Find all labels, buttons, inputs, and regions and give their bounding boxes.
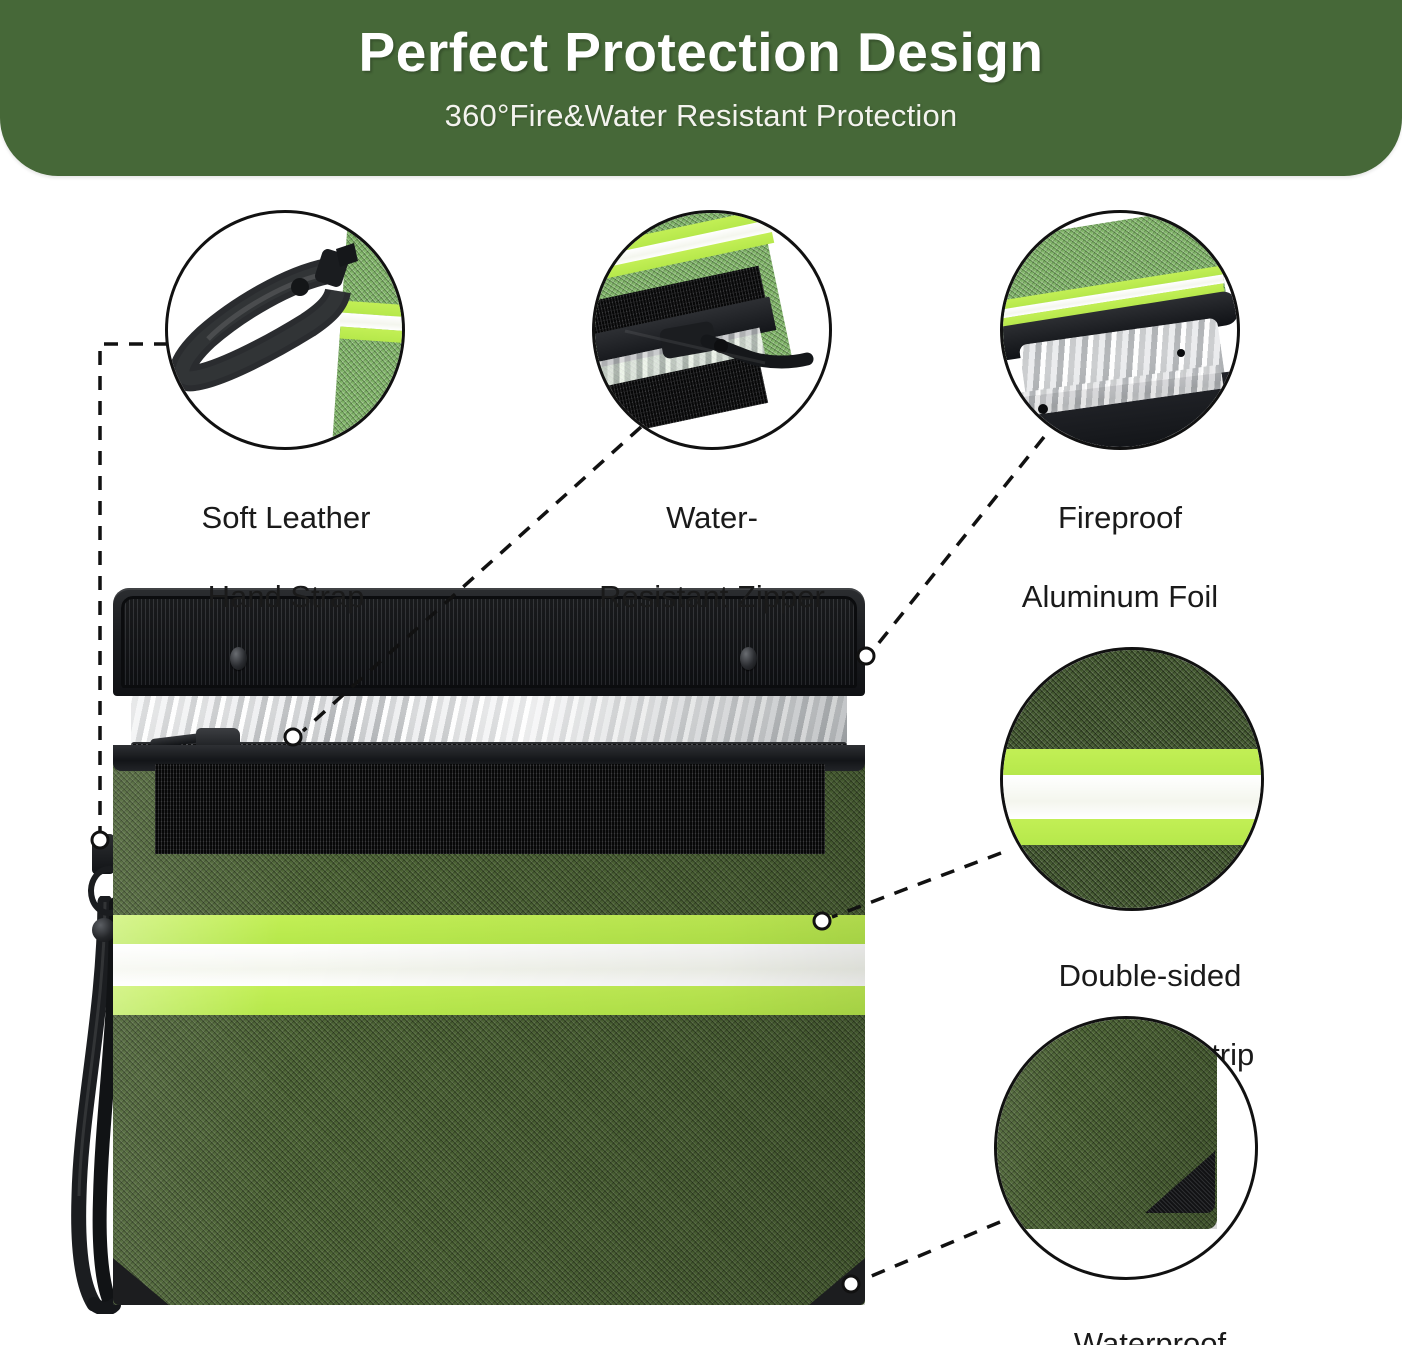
reflective-strip-sheen <box>113 915 865 1015</box>
callout-circle-fireproof-aluminum-foil <box>1000 210 1240 450</box>
strip-macro-lime-lower <box>1003 819 1261 845</box>
callout-circle-water-resistant-zipper <box>592 210 832 450</box>
callout-label-line-2: Hand Strap <box>208 579 365 614</box>
leader-dot-hand-strap <box>91 831 110 850</box>
callout-label-line-1: Soft Leather <box>202 500 371 535</box>
callout-circle-double-sided-reflective-strip <box>1000 647 1264 911</box>
double-sided-reflective-strip <box>113 915 865 1015</box>
strip-macro-lime-upper <box>1003 749 1261 775</box>
callout-label-line-1: Waterproof <box>1074 1326 1226 1345</box>
strip-macro-white-band <box>1003 775 1261 819</box>
callout-label-line-1: Fireproof <box>1058 500 1182 535</box>
leader-dot-leather-cover <box>842 1275 861 1294</box>
callout-circle-waterproof-leather-cover <box>994 1016 1258 1280</box>
callout-label-line-2: Aluminum Foil <box>1022 579 1218 614</box>
leader-dot-zipper <box>284 728 303 747</box>
leader-dot-foil <box>857 647 876 666</box>
leader-dot-reflective-strip <box>813 912 832 931</box>
callout-circle-soft-leather-hand-strap <box>165 210 405 450</box>
snap-button-left <box>230 647 247 670</box>
callout-label-fireproof-aluminum-foil: Fireproof Aluminum Foil <box>962 458 1278 617</box>
callout-label-water-resistant-zipper: Water- Resistant Zipper <box>554 458 870 617</box>
callout-label-line-2: Resistant Zipper <box>599 579 825 614</box>
callout-label-waterproof-leather-cover: Waterproof Leather Cover <box>1000 1284 1300 1345</box>
velcro-closure-strip <box>155 764 825 854</box>
strip-macro-fabric-upper <box>1003 650 1261 749</box>
strip-macro-fabric-lower <box>1003 845 1261 908</box>
snap-button-right <box>740 647 757 670</box>
infographic-page: Perfect Protection Design 360°Fire&Water… <box>0 0 1402 1345</box>
callout-label-line-1: Water- <box>666 500 758 535</box>
callout-label-line-1: Double-sided <box>1059 958 1242 993</box>
callout-label-soft-leather-hand-strap: Soft Leather Hand Strap <box>128 458 444 617</box>
